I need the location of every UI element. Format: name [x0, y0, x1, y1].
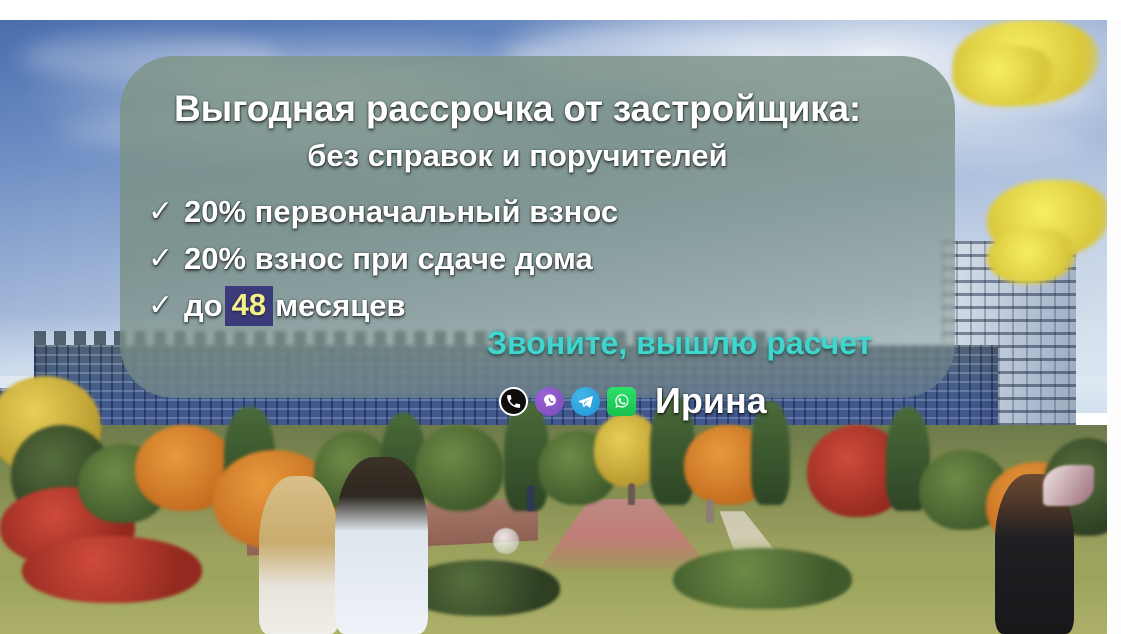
list-item-label-before: до — [184, 288, 223, 324]
checkmark-icon: ✓ — [148, 244, 184, 274]
benefits-list: ✓ 20% первоначальный взнос ✓ 20% взнос п… — [148, 188, 618, 329]
checkmark-icon: ✓ — [148, 197, 184, 227]
foreground-person-right — [975, 474, 1087, 634]
highlighted-term-months: 48 — [225, 286, 273, 326]
distant-person — [628, 483, 635, 505]
right-letterbox-bar — [1107, 20, 1121, 634]
list-item: ✓ 20% взнос при сдаче дома — [148, 235, 618, 282]
checkmark-icon: ✓ — [148, 291, 184, 321]
top-letterbox-bar — [0, 0, 1121, 20]
person-man — [335, 457, 428, 634]
list-item-label: 20% взнос при сдаче дома — [184, 241, 593, 277]
shrub — [22, 536, 201, 604]
person-woman — [259, 476, 340, 634]
shrub — [673, 548, 852, 609]
whatsapp-icon[interactable] — [607, 387, 636, 416]
list-item: ✓ 20% первоначальный взнос — [148, 188, 618, 235]
page-title: Выгодная рассрочка от застройщика: — [0, 88, 1035, 130]
list-item-label-after: месяцев — [275, 288, 405, 324]
contact-row: Ирина — [499, 380, 767, 422]
viber-icon[interactable] — [535, 387, 564, 416]
advertisement-image: Выгодная рассрочка от застройщика: без с… — [0, 0, 1121, 634]
call-to-action-text: Звоните, вышлю расчет — [487, 325, 872, 362]
list-item: ✓ до 48 месяцев — [148, 282, 618, 329]
phone-icon[interactable] — [499, 387, 528, 416]
umbrella — [1043, 465, 1095, 507]
distant-person — [706, 499, 714, 523]
contact-name: Ирина — [655, 380, 767, 422]
telegram-icon[interactable] — [571, 387, 600, 416]
foreground-couple — [247, 450, 449, 634]
list-item-label: 20% первоначальный взнос — [184, 194, 618, 230]
subtitle: без справок и поручителей — [0, 138, 1035, 174]
distant-person — [527, 485, 535, 511]
